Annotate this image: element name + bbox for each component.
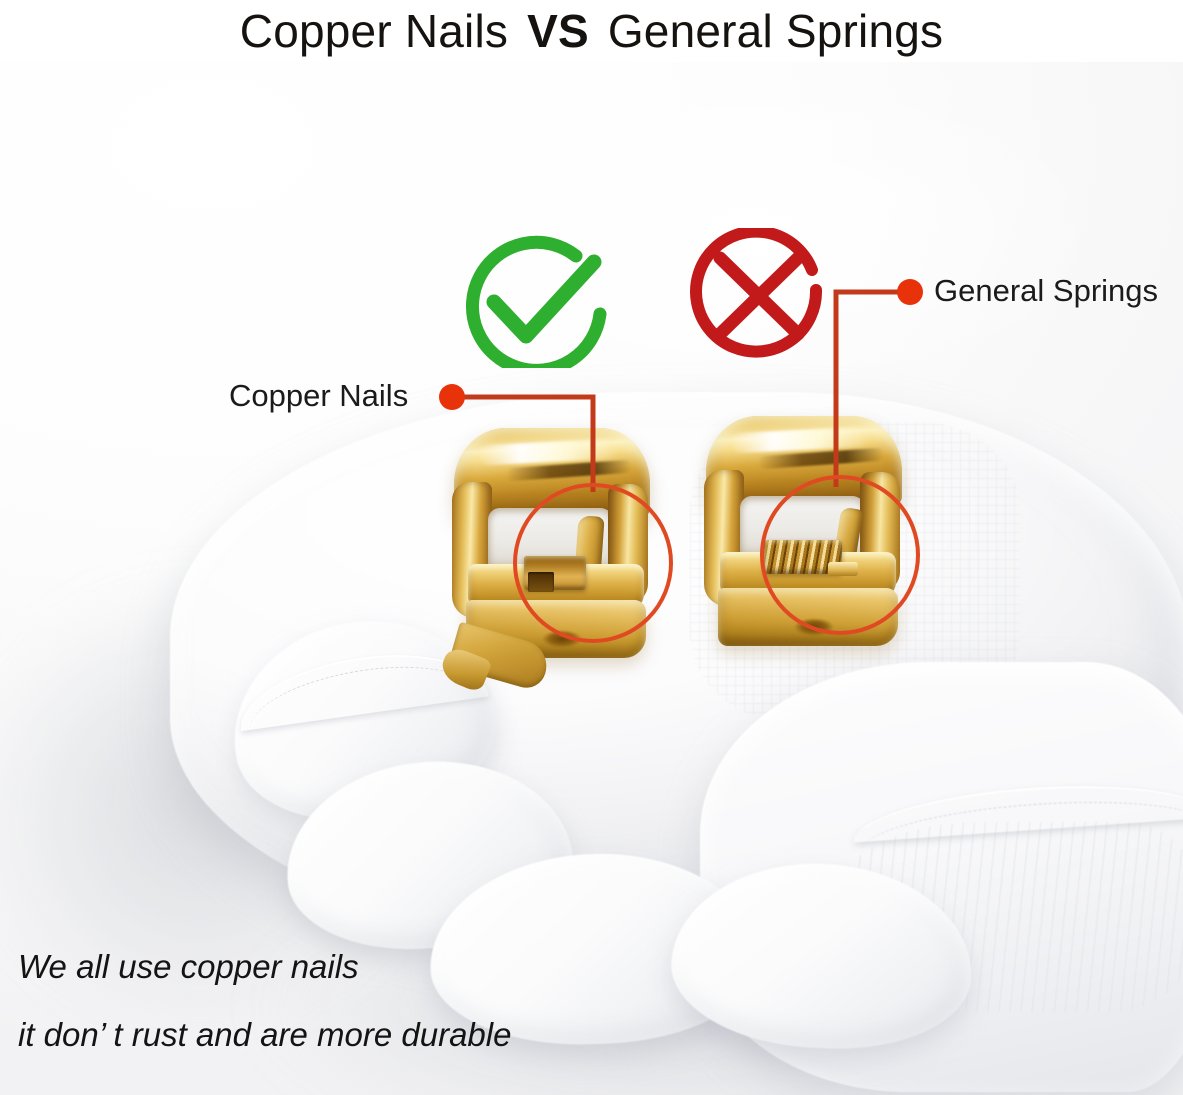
copper-nails-leader-dot — [439, 384, 465, 410]
caption-line-1: We all use copper nails — [18, 948, 359, 986]
caption-line-2: it don’ t rust and are more durable — [18, 1016, 511, 1054]
copper-nail-highlight-circle — [515, 485, 671, 641]
callout-label-general-springs: General Springs — [934, 274, 1158, 308]
callout-annotations — [0, 0, 1183, 1095]
product-comparison-image: Copper Nails VS General Springs — [0, 0, 1183, 1095]
copper-nails-leader — [439, 384, 593, 492]
general-springs-leader — [836, 279, 923, 487]
general-spring-highlight-circle — [762, 477, 918, 633]
general-springs-leader-dot — [897, 279, 923, 305]
callout-label-copper-nails: Copper Nails — [229, 379, 408, 413]
